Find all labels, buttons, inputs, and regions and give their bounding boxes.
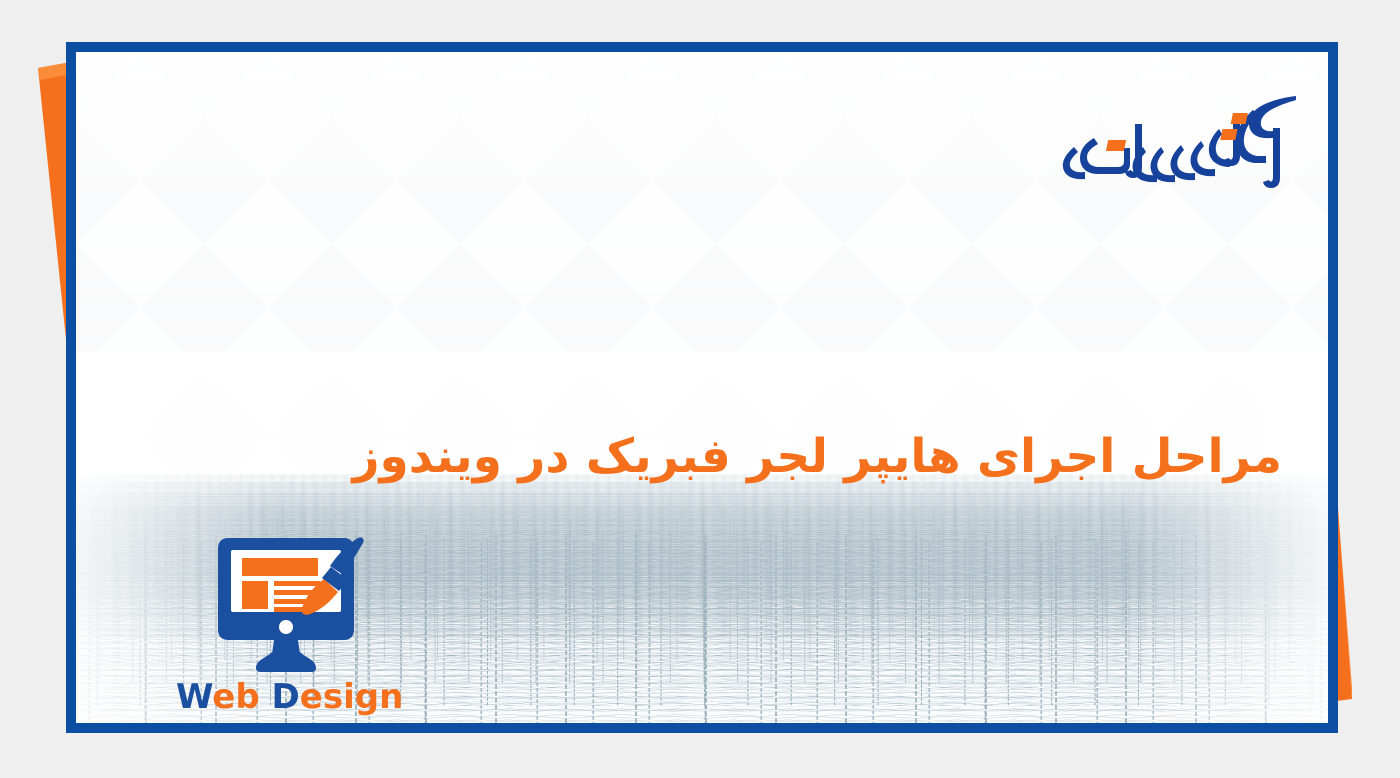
web-design-label-part-1: eb xyxy=(212,677,259,717)
web-design-label-part-3: D xyxy=(272,677,300,717)
web-design-label-part-4: esign xyxy=(300,677,404,717)
web-design-label-part-0: W xyxy=(176,677,212,717)
card-inner: مراحل اجرای هایپر لجر فبریک در ویندوز xyxy=(76,52,1328,723)
web-design-label-space xyxy=(260,677,272,717)
banner-canvas: مراحل اجرای هایپر لجر فبریک در ویندوز xyxy=(0,0,1400,778)
web-design-badge: Web Design xyxy=(176,534,396,714)
page-title: مراحل اجرای هایپر لجر فبریک در ویندوز xyxy=(76,428,1282,487)
arzarasaneh-logo[interactable] xyxy=(1034,94,1304,194)
monitor-paintbrush-icon xyxy=(206,534,366,674)
web-design-label: Web Design xyxy=(176,680,396,714)
banner-card: مراحل اجرای هایپر لجر فبریک در ویندوز xyxy=(66,42,1338,733)
